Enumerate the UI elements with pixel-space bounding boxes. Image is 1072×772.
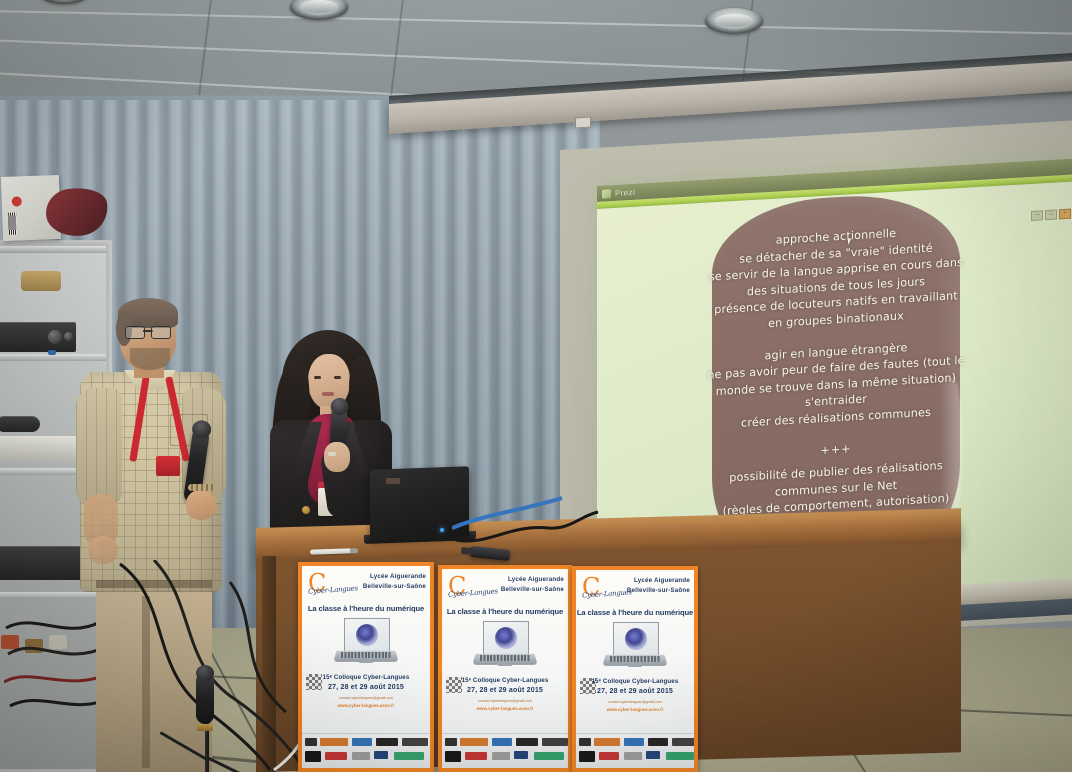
poster-email: contact.cyberlangues@gmail.com xyxy=(576,700,694,704)
eye-icon xyxy=(356,624,378,646)
poster-school-block: Lycée Aiguerande Belleville-sur-Saône xyxy=(501,575,564,595)
school-line-2: Belleville-sur-Saône xyxy=(363,582,426,592)
man-beard xyxy=(130,348,170,370)
photo-scene: Prezi — □ × approche actionnelle se déta… xyxy=(0,0,1072,772)
poster-email: contact.cyberlangues@gmail.com xyxy=(302,696,430,700)
school-line-2: Belleville-sur-Saône xyxy=(627,586,690,596)
poster-colloque: 15ᵉ Colloque Cyber-Langues xyxy=(576,678,694,685)
ceiling-downlight-icon xyxy=(40,0,88,4)
poster-1: C Cyber-Langues Lycée Aiguerande Bellevi… xyxy=(298,562,434,772)
school-line-1: Lycée Aiguerande xyxy=(501,575,564,585)
poster-3: C Cyber-Langues Lycée Aiguerande Bellevi… xyxy=(572,566,698,772)
jacket-button-icon xyxy=(302,506,310,514)
laptop-logo-icon xyxy=(386,478,400,484)
woman-eye xyxy=(334,376,341,379)
maximize-button[interactable]: □ xyxy=(1045,209,1057,220)
poster-sponsor-strip xyxy=(302,733,430,768)
tape-roll xyxy=(21,271,61,291)
poster-sponsor-strip xyxy=(442,733,568,768)
man-glasses-icon xyxy=(125,326,171,338)
poster-school-block: Lycée Aiguerande Belleville-sur-Saône xyxy=(363,572,426,592)
table-cables xyxy=(452,494,602,554)
screen-mount-clip-icon xyxy=(575,116,591,128)
blue-indicator-icon xyxy=(48,350,56,355)
poster-laptop-graphic xyxy=(335,618,397,670)
cable-coil xyxy=(0,416,40,432)
poster-title: La classe à l'heure du numérique xyxy=(576,608,694,617)
eye-icon xyxy=(495,627,517,649)
window-controls[interactable]: — □ × xyxy=(1031,209,1071,221)
poster-url: www.cyber-langues.asso.fr xyxy=(442,706,568,711)
woman-hand xyxy=(324,442,350,472)
poster-laptop-graphic xyxy=(474,621,536,673)
poster-dates: 27, 28 et 29 août 2015 xyxy=(576,688,694,695)
minimize-button[interactable]: — xyxy=(1031,210,1043,221)
poster-url: www.cyber-langues.asso.fr xyxy=(576,707,694,712)
barcode-icon xyxy=(8,213,17,235)
cyber-langues-logo: C Cyber-Langues xyxy=(306,571,364,599)
poster-colloque: 15ᵉ Colloque Cyber-Langues xyxy=(302,674,430,681)
poster-school-block: Lycée Aiguerande Belleville-sur-Saône xyxy=(627,576,690,596)
dvd-player xyxy=(0,436,86,462)
mic-stand-collar xyxy=(197,724,213,731)
laptop-power-led-icon xyxy=(440,528,444,532)
school-line-1: Lycée Aiguerande xyxy=(627,576,690,586)
receiver-knob-icon xyxy=(48,330,62,344)
poster-dates: 27, 28 et 29 août 2015 xyxy=(442,687,568,694)
school-line-2: Belleville-sur-Saône xyxy=(501,585,564,595)
stand-microphone xyxy=(196,672,214,724)
slide-block-1: approche actionnelle se détacher de sa "… xyxy=(635,218,1037,341)
receiver-knob-icon xyxy=(64,332,73,341)
poster-dates: 27, 28 et 29 août 2015 xyxy=(302,684,430,691)
poster-2: C Cyber-Langues Lycée Aiguerande Bellevi… xyxy=(438,565,572,772)
poster-title: La classe à l'heure du numérique xyxy=(442,607,568,616)
slide-block-2: agir en langue étrangère ne pas avoir pe… xyxy=(635,332,1037,438)
cyber-langues-logo: C Cyber-Langues xyxy=(446,574,504,602)
man-wristband xyxy=(188,484,214,491)
poster-sponsor-strip xyxy=(576,733,694,768)
slide-text-body: approche actionnelle se détacher de sa "… xyxy=(635,218,1037,541)
woman-lips xyxy=(322,392,334,396)
woman-eye xyxy=(314,376,321,379)
poster-colloque: 15ᵉ Colloque Cyber-Langues xyxy=(442,677,568,684)
box-logo-icon xyxy=(12,196,22,206)
poster-url: www.cyber-langues.asso.fr xyxy=(302,703,430,708)
eye-icon xyxy=(625,628,647,650)
poster-email: contact.cyberlangues@gmail.com xyxy=(442,699,568,703)
man-name-badge xyxy=(156,456,180,476)
prezi-window-title: Prezi xyxy=(615,187,635,197)
woman-ring-icon xyxy=(328,452,336,456)
poster-title: La classe à l'heure du numérique xyxy=(302,604,430,613)
close-button[interactable]: × xyxy=(1059,209,1071,220)
man-right-hand xyxy=(186,490,216,520)
prezi-app-icon xyxy=(602,189,611,199)
poster-laptop-graphic xyxy=(604,622,666,674)
ceiling-downlight-icon xyxy=(705,8,763,34)
school-line-1: Lycée Aiguerande xyxy=(363,572,426,582)
man-left-arm xyxy=(76,388,122,506)
